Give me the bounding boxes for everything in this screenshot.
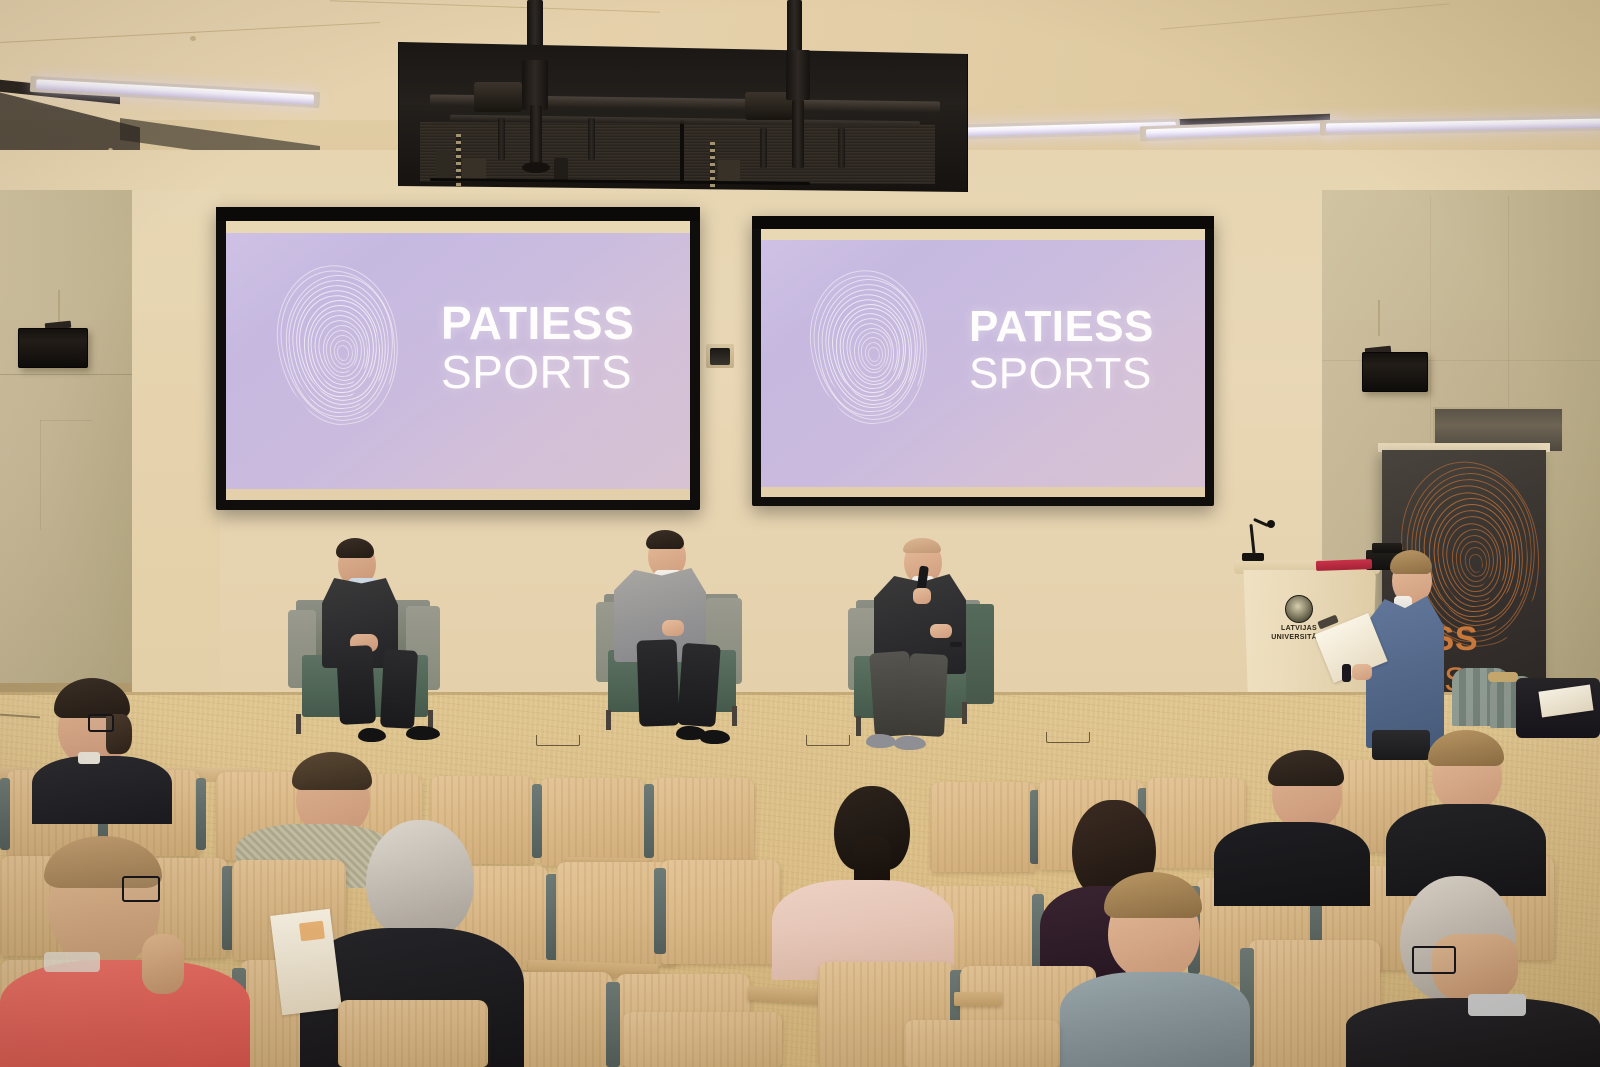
- panelist-hair: [336, 538, 374, 558]
- panelist-legs: [336, 645, 376, 725]
- audience-torso: [1060, 972, 1250, 1067]
- rig-divider: [680, 120, 684, 184]
- projector-left: [474, 82, 522, 112]
- seat-divider: [532, 784, 542, 858]
- writing-desk: [954, 992, 1002, 1006]
- panelist-shoe: [358, 728, 386, 742]
- wall-pillar-left: [132, 190, 220, 720]
- audience-torso: [1214, 822, 1370, 906]
- moderator-hand: [1352, 664, 1372, 680]
- moderator-suit: [1366, 596, 1444, 748]
- seat-divider: [606, 982, 620, 1067]
- auditorium-seat: [540, 778, 644, 866]
- screen-left-logo-line2: SPORTS: [441, 350, 671, 395]
- shirt-collar: [1468, 994, 1526, 1016]
- screen-edge: [761, 487, 1205, 497]
- floor-wall-joint: [0, 692, 1600, 695]
- panelist-hand-mic: [913, 588, 931, 604]
- rig-bracket: [760, 128, 767, 168]
- panelist-hand: [662, 620, 684, 636]
- rig-pipe: [787, 0, 802, 52]
- shirt-collar: [78, 752, 100, 764]
- seat-divider: [654, 868, 666, 954]
- projector-pole: [792, 100, 804, 168]
- audience-hand: [142, 934, 184, 994]
- podium-laptop-lid: [1372, 543, 1402, 553]
- floor-outlet: [806, 735, 850, 746]
- speaker-cable: [58, 290, 60, 326]
- sprinkler-head: [190, 36, 196, 41]
- wall-concrete-left: [0, 190, 132, 720]
- projector-mount: [786, 50, 810, 100]
- auditorium-photo: PATIESS SPORTS PATIESS SPORTS IESS RTS L…: [0, 0, 1600, 1067]
- panelist-legs: [677, 643, 721, 727]
- floor-outlet: [1046, 732, 1090, 743]
- wristwatch: [950, 642, 962, 647]
- projector-pole: [530, 105, 542, 167]
- armchair-leg: [606, 710, 611, 730]
- screen-casing: [216, 207, 700, 221]
- screen-right-logo-line1: PATIESS: [969, 306, 1194, 349]
- microphone-head: [1267, 520, 1275, 528]
- moderator-trousers: [1372, 730, 1430, 760]
- moderator-microphone: [1342, 664, 1351, 682]
- rig-control-box: [436, 150, 452, 180]
- screen-left-logo-line1: PATIESS: [441, 301, 671, 346]
- projector-mount: [522, 60, 548, 110]
- screen-edge: [226, 489, 690, 500]
- side-chair-arm: [1488, 672, 1518, 682]
- armchair-leg: [296, 714, 301, 734]
- seat-divider: [644, 784, 654, 858]
- glasses-icon: [122, 876, 160, 902]
- audience-torso: [0, 960, 250, 1067]
- panelist-legs: [637, 639, 680, 726]
- concrete-seam: [40, 420, 92, 421]
- armchair-leg: [962, 702, 967, 724]
- projection-screen-left: PATIESS SPORTS: [216, 207, 700, 510]
- rig-bracket: [588, 118, 595, 160]
- handout-accent: [299, 921, 325, 942]
- projection-screen-right: PATIESS SPORTS: [752, 216, 1214, 506]
- concrete-seam: [0, 374, 132, 375]
- rig-label: [718, 160, 740, 182]
- screen-surface-right: PATIESS SPORTS: [761, 240, 1205, 487]
- panelist-shoe: [406, 726, 440, 740]
- auditorium-seat: [930, 782, 1036, 872]
- auditorium-seat: [650, 778, 754, 866]
- podium-folder: [1316, 559, 1372, 571]
- glasses-icon: [1412, 946, 1456, 974]
- rig-sensor: [554, 158, 568, 180]
- audience-torso: [32, 756, 172, 824]
- auditorium-seat: [660, 860, 780, 964]
- panelist-legs: [906, 653, 948, 737]
- armchair-leg: [732, 706, 737, 726]
- projector-head: [522, 162, 550, 173]
- shirt-collar: [44, 952, 100, 972]
- seat-divider: [196, 778, 206, 850]
- panelist-shoe: [866, 734, 896, 748]
- screen-surface-left: PATIESS SPORTS: [226, 233, 690, 489]
- screen-right-logo-line2: SPORTS: [969, 353, 1194, 396]
- screen-edge: [761, 229, 1205, 240]
- auditorium-seat: [904, 1020, 1060, 1067]
- university-emblem-icon: [1285, 595, 1313, 623]
- fingerprint-icon: [276, 271, 396, 431]
- fingerprint-icon: [809, 276, 925, 430]
- audience-hair-grey: [366, 820, 474, 938]
- armchair-leg: [856, 716, 861, 736]
- concrete-seam: [40, 420, 41, 530]
- screen-edge: [226, 221, 690, 233]
- auditorium-seat: [338, 1000, 488, 1067]
- panelist-legs: [380, 649, 418, 729]
- right-wall-speaker: [1362, 352, 1428, 392]
- seat-divider: [0, 778, 10, 850]
- panelist-shoe: [700, 730, 730, 744]
- panelist-hair: [646, 530, 684, 549]
- screen-casing: [752, 216, 1214, 229]
- left-wall-speaker: [18, 328, 88, 368]
- panelist-hand: [930, 624, 952, 638]
- rig-bracket: [498, 118, 505, 160]
- floor-outlet: [536, 735, 580, 746]
- rig-label: [462, 158, 486, 180]
- panelist-shoe: [894, 736, 926, 750]
- microphone-base: [1242, 553, 1264, 561]
- rig-bracket: [838, 128, 845, 168]
- auditorium-seat: [622, 1012, 782, 1067]
- wall-camera-icon: [710, 348, 730, 365]
- glasses-icon: [88, 714, 114, 732]
- speaker-cable: [1378, 300, 1380, 336]
